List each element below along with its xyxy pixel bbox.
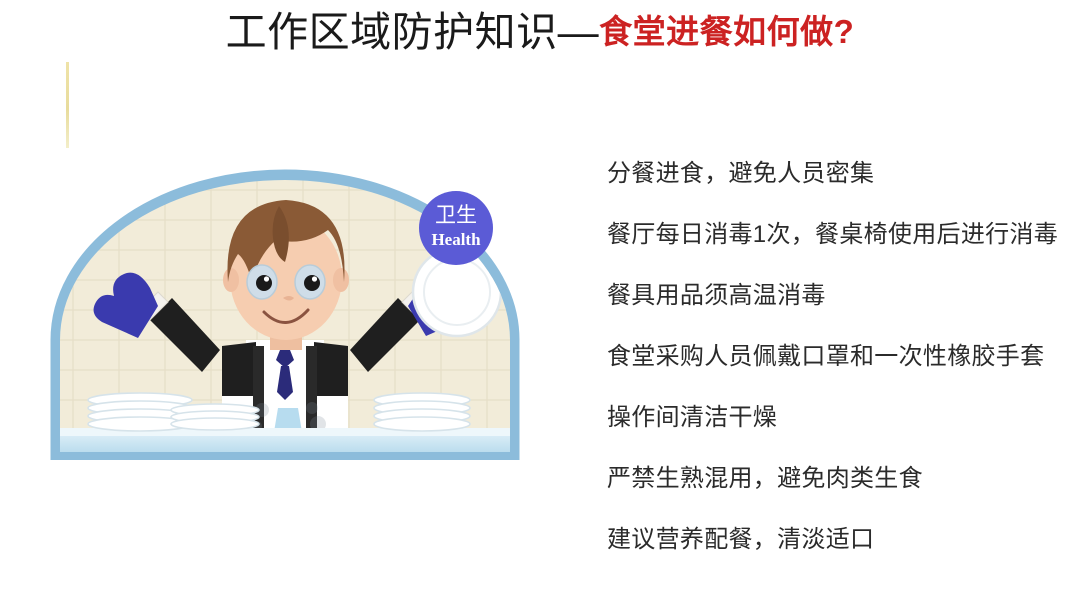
list-item: 餐厅每日消毒1次，餐桌椅使用后进行消毒 bbox=[607, 204, 1077, 265]
page-title: 工作区域防护知识—食堂进餐如何做? bbox=[0, 10, 1080, 56]
kitchen-worker-illustration: 卫生 Health bbox=[50, 160, 520, 460]
slide-canvas: 工作区域防护知识—食堂进餐如何做? bbox=[0, 0, 1080, 606]
list-item: 分餐进食，避免人员密集 bbox=[607, 143, 1077, 204]
health-badge: 卫生 Health bbox=[419, 191, 493, 265]
list-item: 操作间清洁干燥 bbox=[607, 387, 1077, 448]
plate-stack-middle bbox=[171, 404, 259, 430]
health-badge-english-label: Health bbox=[431, 230, 481, 249]
page-title-accent: 食堂进餐如何做? bbox=[599, 13, 854, 50]
guidelines-list: 分餐进食，避免人员密集 餐厅每日消毒1次，餐桌椅使用后进行消毒 餐具用品须高温消… bbox=[607, 143, 1077, 570]
list-item: 建议营养配餐，清淡适口 bbox=[607, 509, 1077, 570]
list-item: 严禁生熟混用，避免肉类生食 bbox=[607, 448, 1077, 509]
list-item: 餐具用品须高温消毒 bbox=[607, 265, 1077, 326]
accent-rule-divider bbox=[66, 62, 69, 148]
list-item: 食堂采购人员佩戴口罩和一次性橡胶手套 bbox=[607, 326, 1077, 387]
health-badge-chinese-label: 卫生 bbox=[435, 203, 477, 227]
plate-stack-right bbox=[374, 393, 470, 431]
page-title-main: 工作区域防护知识— bbox=[226, 9, 600, 55]
